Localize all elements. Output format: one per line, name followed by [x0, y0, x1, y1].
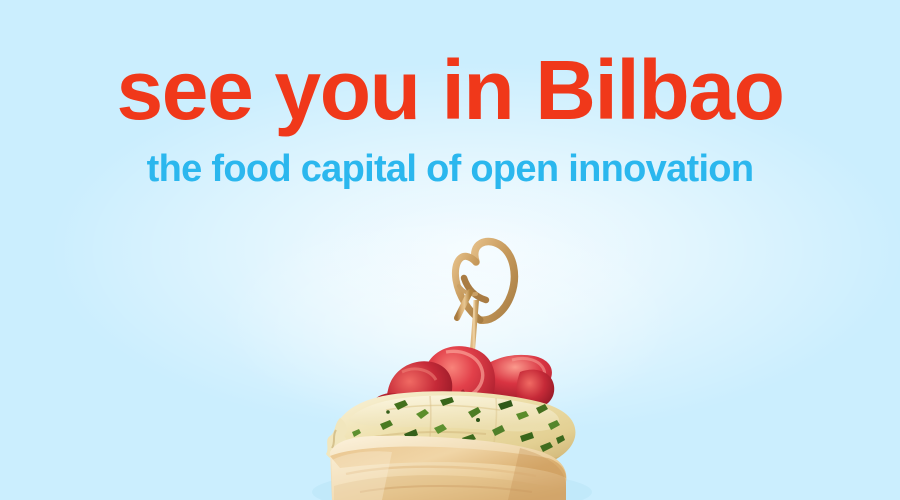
page-subtitle: the food capital of open innovation: [0, 150, 900, 188]
poster-canvas: see you in Bilbao the food capital of op…: [0, 0, 900, 500]
page-title: see you in Bilbao: [0, 0, 900, 132]
skewer-loop-right: [475, 242, 515, 321]
hero-text: see you in Bilbao the food capital of op…: [0, 0, 900, 188]
